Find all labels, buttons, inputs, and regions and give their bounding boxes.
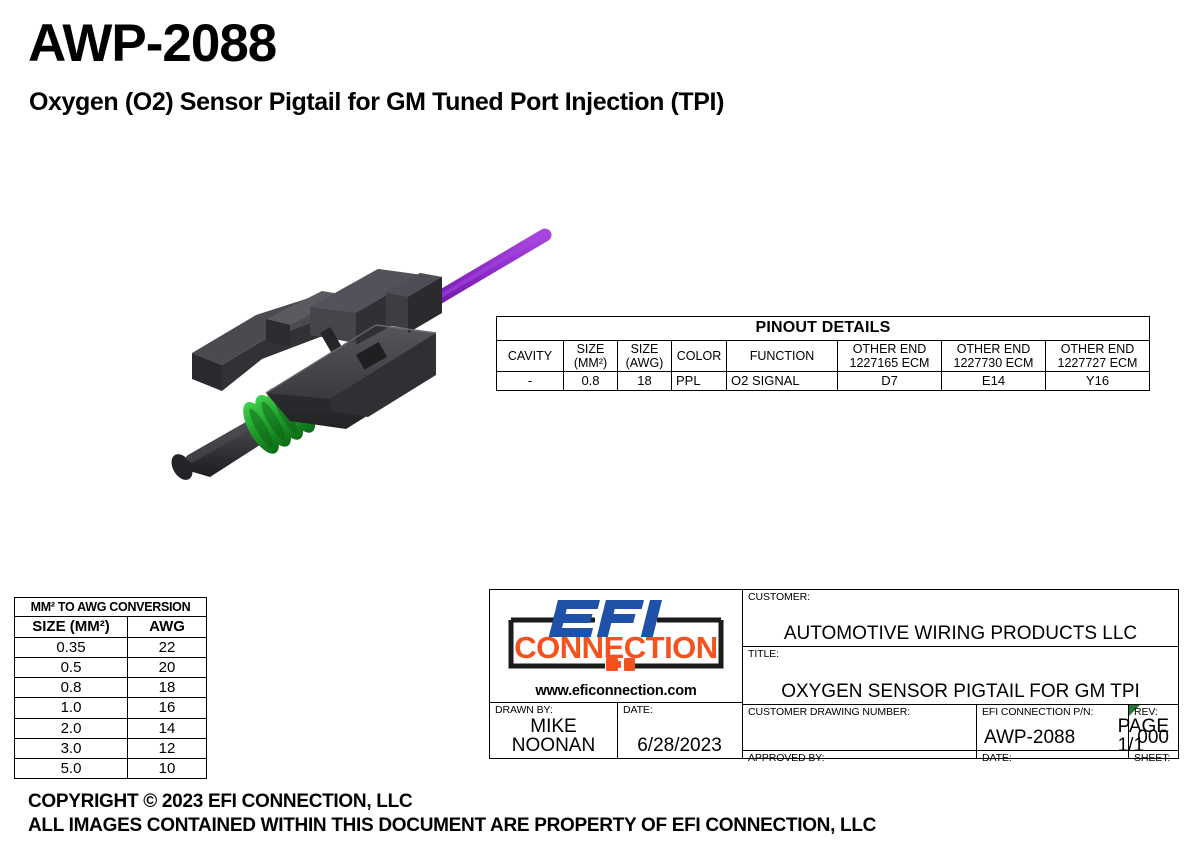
approved-date-label: DATE: <box>982 753 1012 764</box>
company-website: www.eficonnection.com <box>535 683 696 699</box>
cell-awg: 14 <box>128 718 207 738</box>
drawn-date-value: 6/28/2023 <box>618 736 741 755</box>
copyright-line-1: COPYRIGHT © 2023 EFI CONNECTION, LLC <box>28 790 876 814</box>
drawn-date-label: DATE: <box>623 705 653 716</box>
approval-row: APPROVED BY: DATE: SHEET: PAGE 1/1 <box>743 751 1178 758</box>
cell-mm2: 3.0 <box>15 738 128 758</box>
customer-cell: CUSTOMER: AUTOMOTIVE WIRING PRODUCTS LLC <box>743 590 1178 647</box>
customer-drawing-number-label: CUSTOMER DRAWING NUMBER: <box>748 707 910 718</box>
title-block-right-column: CUSTOMER: AUTOMOTIVE WIRING PRODUCTS LLC… <box>743 590 1178 758</box>
copyright-line-2: ALL IMAGES CONTAINED WITHIN THIS DOCUMEN… <box>28 814 876 838</box>
cell-other-end-1227165: D7 <box>838 371 942 391</box>
drawn-by-cell: DRAWN BY: MIKE NOONAN <box>490 703 618 758</box>
cell-mm2: 0.5 <box>15 657 128 677</box>
customer-label: CUSTOMER: <box>748 592 810 603</box>
cell-mm2: 0.35 <box>15 637 128 657</box>
cell-mm2: 0.8 <box>15 678 128 698</box>
connector-body-graphic <box>192 269 442 429</box>
mm2-to-awg-conversion-table: MM² TO AWG CONVERSION SIZE (MM²) AWG 0.3… <box>14 597 207 779</box>
table-row: 3.0 12 <box>15 738 207 758</box>
cell-function: O2 SIGNAL <box>727 371 838 391</box>
pinout-header-function: FUNCTION <box>727 340 838 371</box>
drawing-title-value: OXYGEN SENSOR PIGTAIL FOR GM TPI <box>743 682 1178 701</box>
awg-table-title: MM² TO AWG CONVERSION <box>15 598 207 617</box>
company-logo: CONNECTION www.eficonnection.com <box>490 590 742 703</box>
pinout-header-size-mm2: SIZE (MM²) <box>564 340 618 371</box>
sheet-value: PAGE 1/1 <box>1118 717 1169 755</box>
copyright-footer: COPYRIGHT © 2023 EFI CONNECTION, LLC ALL… <box>28 790 876 839</box>
table-row: 1.0 16 <box>15 698 207 718</box>
table-row: 0.5 20 <box>15 657 207 677</box>
cell-other-end-1227730: E14 <box>942 371 1046 391</box>
title-block: CONNECTION www.eficonnection.com DRAWN B… <box>489 589 1179 759</box>
pinout-header-other-end-1227165: OTHER END 1227165 ECM <box>838 340 942 371</box>
drawn-by-label: DRAWN BY: <box>495 705 553 716</box>
cell-mm2: 1.0 <box>15 698 128 718</box>
cell-mm2: 5.0 <box>15 759 128 779</box>
table-row: - 0.8 18 PPL O2 SIGNAL D7 E14 Y16 <box>497 371 1150 391</box>
cell-other-end-1227727: Y16 <box>1046 371 1150 391</box>
table-row: 5.0 10 <box>15 759 207 779</box>
sheet-cell: SHEET: PAGE 1/1 <box>1129 751 1178 758</box>
pinout-header-cavity: CAVITY <box>497 340 564 371</box>
cell-awg: 22 <box>128 637 207 657</box>
cell-awg: 10 <box>128 759 207 779</box>
pinout-header-other-end-1227730: OTHER END 1227730 ECM <box>942 340 1046 371</box>
cell-color: PPL <box>672 371 727 391</box>
cell-size-awg: 18 <box>618 371 672 391</box>
cell-mm2: 2.0 <box>15 718 128 738</box>
customer-drawing-number-cell: CUSTOMER DRAWING NUMBER: <box>743 705 977 750</box>
cell-size-mm2: 0.8 <box>564 371 618 391</box>
drawing-title-label: TITLE: <box>748 649 779 660</box>
svg-text:CONNECTION: CONNECTION <box>514 630 717 665</box>
drawn-by-row: DRAWN BY: MIKE NOONAN DATE: 6/28/2023 <box>490 703 742 758</box>
pinout-header-size-awg: SIZE (AWG) <box>618 340 672 371</box>
drawn-date-cell: DATE: 6/28/2023 <box>618 703 741 758</box>
drawing-title-cell: TITLE: OXYGEN SENSOR PIGTAIL FOR GM TPI <box>743 647 1178 705</box>
pinout-header-color: COLOR <box>672 340 727 371</box>
pinout-header-other-end-1227727: OTHER END 1227727 ECM <box>1046 340 1150 371</box>
part-number-row: CUSTOMER DRAWING NUMBER: EFI CONNECTION … <box>743 705 1178 751</box>
cell-awg: 12 <box>128 738 207 758</box>
cell-awg: 20 <box>128 657 207 677</box>
approved-date-cell: DATE: <box>977 751 1129 758</box>
awg-header-size-mm2: SIZE (MM²) <box>15 617 128 637</box>
drawn-by-value: MIKE NOONAN <box>490 717 617 755</box>
efi-connection-logo-graphic: CONNECTION <box>507 596 725 682</box>
cell-awg: 16 <box>128 698 207 718</box>
title-block-left-column: CONNECTION www.eficonnection.com DRAWN B… <box>490 590 743 758</box>
page-title: AWP-2088 <box>28 16 276 72</box>
pinout-details-table: PINOUT DETAILS CAVITY SIZE (MM²) SIZE (A… <box>496 316 1150 391</box>
page-subtitle: Oxygen (O2) Sensor Pigtail for GM Tuned … <box>29 89 724 117</box>
pinout-table-title: PINOUT DETAILS <box>497 317 1150 341</box>
table-row: 2.0 14 <box>15 718 207 738</box>
cell-awg: 18 <box>128 678 207 698</box>
table-row: 0.35 22 <box>15 637 207 657</box>
efi-part-number-cell: EFI CONNECTION P/N: AWP-2088 <box>977 705 1129 750</box>
table-row: 0.8 18 <box>15 678 207 698</box>
drawing-page: AWP-2088 Oxygen (O2) Sensor Pigtail for … <box>0 0 1200 857</box>
awg-header-awg: AWG <box>128 617 207 637</box>
cell-cavity: - <box>497 371 564 391</box>
customer-value: AUTOMOTIVE WIRING PRODUCTS LLC <box>743 624 1178 643</box>
efi-part-number-label: EFI CONNECTION P/N: <box>982 707 1093 718</box>
approved-by-label: APPROVED BY: <box>748 753 824 764</box>
efi-part-number-value: AWP-2088 <box>984 728 1075 747</box>
approved-by-cell: APPROVED BY: <box>743 751 977 758</box>
